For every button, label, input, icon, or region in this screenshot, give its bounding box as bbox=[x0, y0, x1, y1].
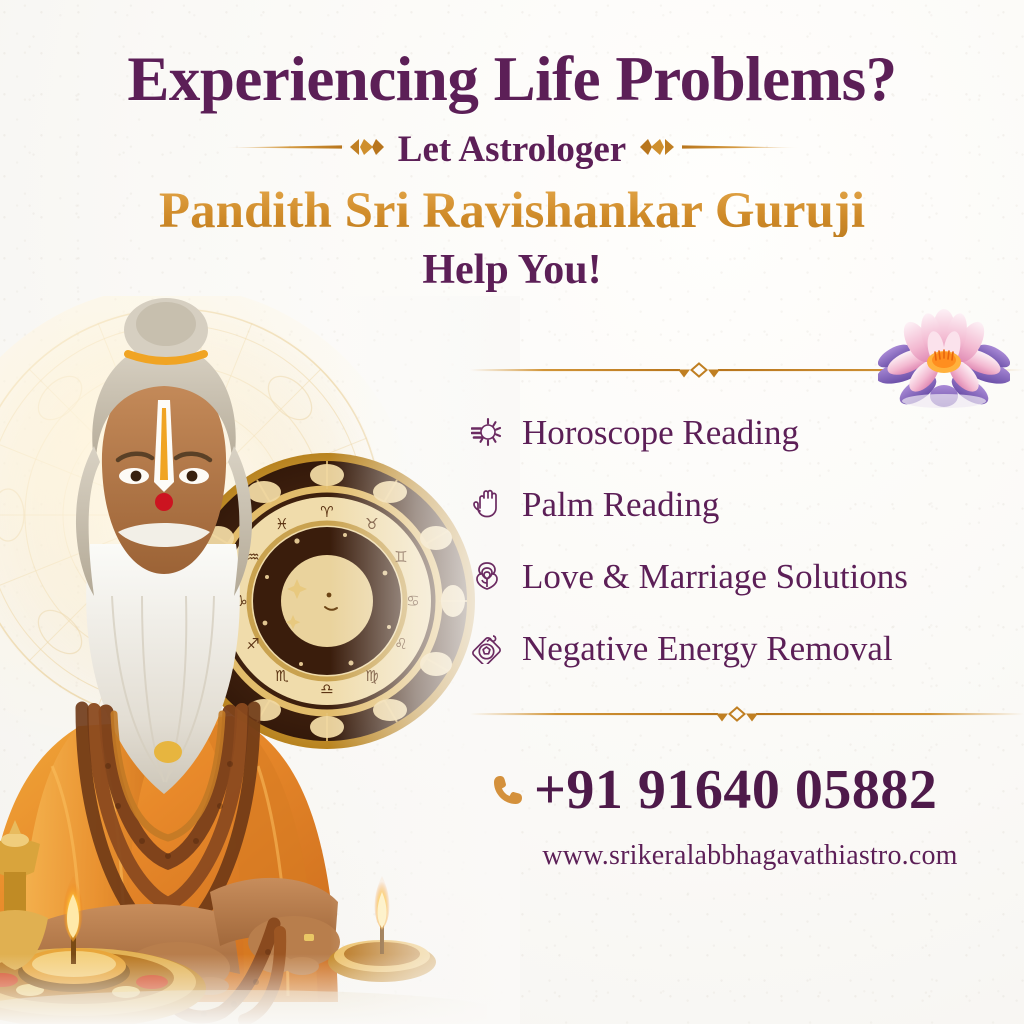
subtitle-row: Let Astrologer bbox=[0, 131, 1024, 168]
service-label: Palm Reading bbox=[522, 487, 719, 522]
phone-number: +91 91640 05882 bbox=[534, 762, 937, 818]
svg-text:♌: ♌ bbox=[394, 635, 407, 653]
protection-amulet-icon bbox=[470, 631, 504, 665]
svg-text:♊: ♊ bbox=[394, 548, 407, 566]
svg-text:♈: ♈ bbox=[320, 503, 333, 521]
svg-text:♎: ♎ bbox=[320, 680, 333, 698]
list-item[interactable]: Palm Reading bbox=[470, 468, 1024, 540]
services-list: Horoscope Reading Palm Reading bbox=[470, 396, 1024, 684]
info-column: Horoscope Reading Palm Reading bbox=[470, 356, 1024, 872]
astrologer-name: Pandith Sri Ravishankar Guruji bbox=[0, 186, 1024, 237]
headline-block: Experiencing Life Problems? bbox=[0, 48, 1024, 291]
divider-bottom bbox=[470, 700, 1024, 728]
ornamental-rule-right bbox=[640, 135, 800, 164]
svg-text:♍: ♍ bbox=[365, 667, 378, 685]
svg-text:♐: ♐ bbox=[246, 635, 259, 653]
lotus-flower-icon bbox=[878, 306, 1010, 410]
service-label: Horoscope Reading bbox=[522, 415, 799, 450]
svg-text:♉: ♉ bbox=[365, 515, 378, 533]
phone-icon bbox=[488, 770, 528, 810]
ornamental-rule-left bbox=[224, 135, 384, 164]
website-url[interactable]: www.srikeralabbhagavathiastro.com bbox=[470, 840, 1024, 872]
service-label: Love & Marriage Solutions bbox=[522, 559, 908, 594]
page-title: Experiencing Life Problems? bbox=[0, 48, 1024, 111]
headline-cta: Help You! bbox=[0, 249, 1024, 291]
astrology-poster: ♈♉ ♊♋ ♌♍ ♎♏ ♐♑ ♒♓ bbox=[0, 0, 1024, 1024]
horoscope-sun-icon bbox=[470, 415, 504, 449]
svg-text:♓: ♓ bbox=[275, 515, 288, 533]
list-item[interactable]: Negative Energy Removal bbox=[470, 612, 1024, 684]
astrologer-portrait: ♈♉ ♊♋ ♌♍ ♎♏ ♐♑ ♒♓ bbox=[0, 296, 487, 1024]
phone-row[interactable]: +91 91640 05882 bbox=[470, 762, 1024, 818]
palm-hand-icon bbox=[470, 487, 504, 521]
svg-text:♏: ♏ bbox=[275, 667, 289, 685]
rose-heart-icon bbox=[470, 559, 504, 593]
list-item[interactable]: Love & Marriage Solutions bbox=[470, 540, 1024, 612]
svg-text:♋: ♋ bbox=[406, 592, 419, 610]
divider-top bbox=[470, 356, 1024, 384]
subtitle-text: Let Astrologer bbox=[398, 131, 626, 168]
service-label: Negative Energy Removal bbox=[522, 631, 893, 666]
